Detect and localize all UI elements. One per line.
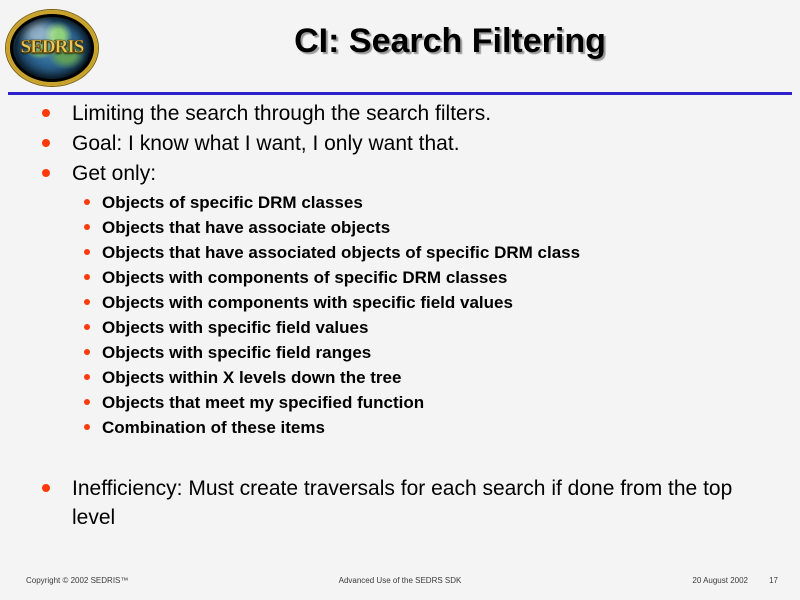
bullet-text: Get only: (72, 162, 156, 185)
footer-date: 20 August 2002 (692, 576, 748, 585)
bullet-dot-icon (42, 169, 50, 177)
sub-bullet-text: Objects with components with specific fi… (102, 293, 513, 312)
sub-bullet-item: Objects that meet my specified function (0, 390, 800, 415)
logo-wordmark: SEDRIS (10, 37, 94, 59)
sub-bullet-item: Objects that have associate objects (0, 215, 800, 240)
sub-bullet-text: Objects that have associated objects of … (102, 243, 580, 262)
sub-bullet-item: Objects that have associated objects of … (0, 240, 800, 265)
bullet-dot-icon (84, 324, 90, 330)
bullet-dot-icon (84, 299, 90, 305)
sub-bullet-item: Objects with specific field ranges (0, 340, 800, 365)
bullet-dot-icon (84, 249, 90, 255)
footer-deck-title: Advanced Use of the SEDRS SDK (0, 576, 800, 585)
sub-bullet-text: Objects of specific DRM classes (102, 193, 363, 212)
footer-page-number: 17 (769, 576, 778, 585)
slide-body: Limiting the search through the search f… (0, 100, 800, 535)
page-title: CI: Search Filtering (110, 22, 790, 61)
bullet-dot-icon (84, 199, 90, 205)
slide-footer: Copyright © 2002 SEDRIS™ Advanced Use of… (0, 576, 800, 592)
bullet-dot-icon (84, 424, 90, 430)
bullet-text: Limiting the search through the search f… (72, 102, 491, 125)
bullet-dot-icon (42, 109, 50, 117)
sub-bullet-text: Objects that meet my specified function (102, 393, 424, 412)
closing-bullet-text: Inefficiency: Must create traversals for… (72, 477, 732, 529)
bullet-item: Limiting the search through the search f… (0, 100, 800, 127)
sub-bullet-text: Objects within X levels down the tree (102, 368, 401, 387)
bullet-dot-icon (84, 349, 90, 355)
sub-bullet-item: Objects with components with specific fi… (0, 290, 800, 315)
sub-bullet-text: Objects with components of specific DRM … (102, 268, 507, 287)
slide: SEDRIS CI: Search Filtering Limiting the… (0, 0, 800, 600)
content-spacer (0, 440, 800, 474)
sub-bullet-text: Objects with specific field values (102, 318, 368, 337)
header-divider (8, 92, 792, 95)
slide-header: SEDRIS CI: Search Filtering (0, 0, 800, 92)
sub-bullet-item: Combination of these items (0, 415, 800, 440)
sub-bullet-item: Objects within X levels down the tree (0, 365, 800, 390)
bullet-text: Goal: I know what I want, I only want th… (72, 132, 460, 155)
bullet-item: Get only: (0, 160, 800, 187)
sub-bullet-text: Objects that have associate objects (102, 218, 390, 237)
sub-bullet-text: Combination of these items (102, 418, 325, 437)
sub-bullet-item: Objects with specific field values (0, 315, 800, 340)
closing-bullet-item: Inefficiency: Must create traversals for… (0, 474, 800, 532)
bullet-dot-icon (42, 139, 50, 147)
bullet-dot-icon (84, 274, 90, 280)
bullet-dot-icon (84, 399, 90, 405)
bullet-dot-icon (84, 374, 90, 380)
sedris-logo: SEDRIS (6, 10, 98, 86)
bullet-dot-icon (42, 484, 50, 492)
bullet-dot-icon (84, 224, 90, 230)
bullet-item: Goal: I know what I want, I only want th… (0, 130, 800, 157)
sub-bullet-item: Objects of specific DRM classes (0, 190, 800, 215)
sub-bullet-text: Objects with specific field ranges (102, 343, 371, 362)
sub-bullet-list: Objects of specific DRM classes Objects … (0, 190, 800, 440)
sub-bullet-item: Objects with components of specific DRM … (0, 265, 800, 290)
